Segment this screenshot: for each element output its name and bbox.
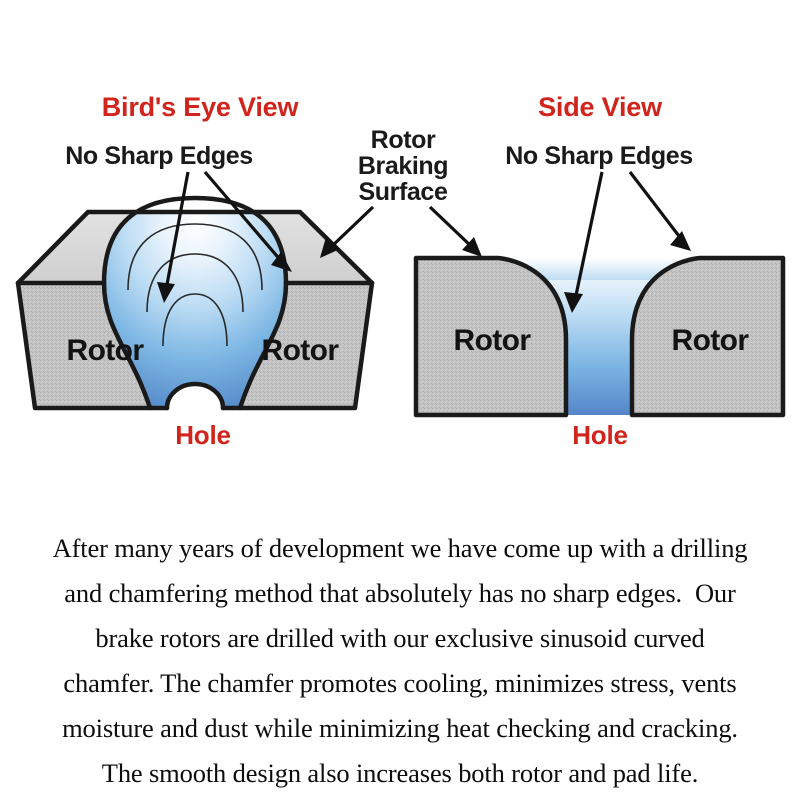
side-view-rotor-label-left: Rotor	[454, 324, 532, 357]
page-root: Bird's Eye View	[0, 0, 800, 800]
left-view-hole-label: Hole	[175, 420, 231, 450]
left-view-rotor-label-left: Rotor	[67, 334, 145, 367]
rotor-braking-surface-callout: Rotor Braking Surface	[320, 126, 482, 258]
birds-eye-view-group: Bird's Eye View	[18, 92, 482, 450]
braking-surface-line-3: Surface	[359, 178, 448, 206]
paragraph-line: The smooth design also increases both ro…	[6, 751, 794, 796]
rotor-chamfer-diagram: Bird's Eye View	[0, 0, 800, 470]
braking-surface-line-1: Rotor	[371, 126, 436, 154]
paragraph-line: chamfer. The chamfer promotes cooling, m…	[6, 661, 794, 706]
description-paragraph: After many years of development we have …	[6, 526, 794, 796]
side-view-leader-2	[630, 172, 691, 251]
braking-surface-leader-left	[320, 207, 373, 258]
paragraph-line: After many years of development we have …	[6, 526, 794, 571]
left-view-rotor-label-right: Rotor	[262, 334, 340, 367]
side-view-hole-label: Hole	[572, 420, 628, 450]
side-view-no-sharp-edges-label: No Sharp Edges	[505, 142, 693, 170]
paragraph-line: brake rotors are drilled with our exclus…	[6, 616, 794, 661]
side-view-rotor-label-right: Rotor	[672, 324, 750, 357]
braking-surface-line-2: Braking	[358, 152, 448, 180]
paragraph-line: and chamfering method that absolutely ha…	[6, 571, 794, 616]
braking-surface-leader-right	[430, 207, 482, 257]
birds-eye-view-title: Bird's Eye View	[102, 92, 300, 122]
left-no-sharp-edges-label: No Sharp Edges	[65, 142, 253, 170]
paragraph-line: moisture and dust while minimizing heat …	[6, 706, 794, 751]
diagram-area: Bird's Eye View	[0, 0, 800, 470]
side-view-title: Side View	[538, 92, 663, 122]
side-view-leader-2-arrowhead	[670, 231, 691, 251]
side-view-group: Side View Rotor Rotor No Sharp Edges	[416, 92, 783, 450]
